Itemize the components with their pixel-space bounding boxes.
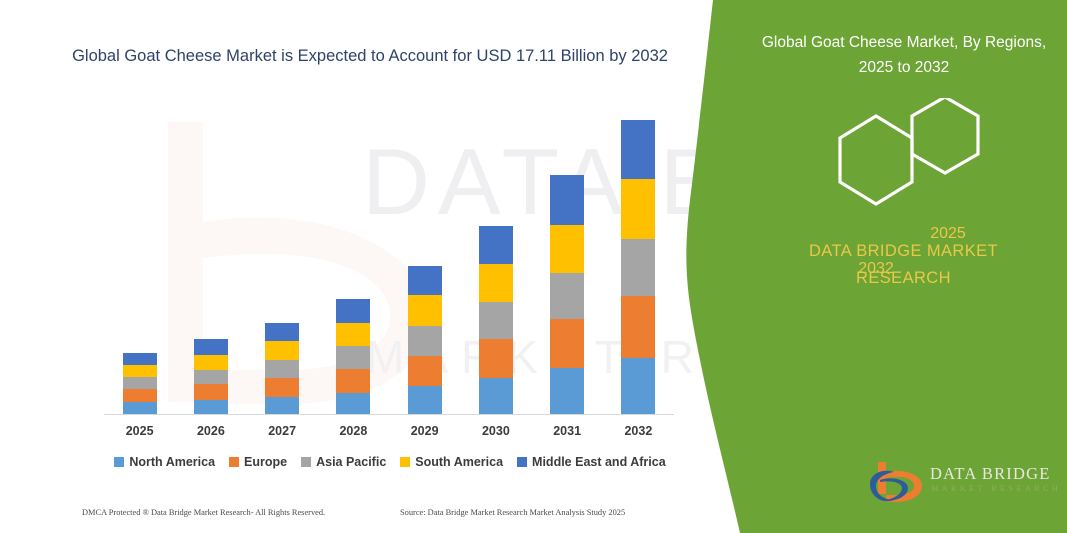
bar-segment bbox=[621, 120, 655, 179]
bar-segment bbox=[408, 356, 442, 387]
hexagon-shapes bbox=[740, 98, 1067, 218]
brand-line-1: DATA BRIDGE MARKET bbox=[750, 238, 1057, 265]
bar-segment bbox=[479, 378, 513, 414]
legend-item: Middle East and Africa bbox=[517, 455, 666, 469]
x-axis-label: 2029 bbox=[395, 424, 455, 444]
legend-item: Europe bbox=[229, 455, 287, 469]
bar-segment bbox=[621, 179, 655, 238]
footer-copyright: DMCA Protected ® Data Bridge Market Rese… bbox=[82, 508, 325, 517]
bar-segment bbox=[550, 319, 584, 368]
hexagon-2032 bbox=[840, 116, 912, 204]
bar-segment bbox=[265, 360, 299, 378]
legend-swatch bbox=[301, 457, 311, 467]
bar-segment bbox=[550, 225, 584, 273]
x-axis-label: 2030 bbox=[466, 424, 526, 444]
bar-2026 bbox=[194, 339, 228, 414]
legend-swatch bbox=[114, 457, 124, 467]
legend-item: Asia Pacific bbox=[301, 455, 386, 469]
bar-segment bbox=[408, 266, 442, 296]
bar-2025 bbox=[123, 353, 157, 414]
bar-segment bbox=[336, 346, 370, 369]
legend-item: South America bbox=[400, 455, 503, 469]
legend-label: Middle East and Africa bbox=[532, 455, 666, 469]
bar-segment bbox=[550, 368, 584, 414]
footer-source: Source: Data Bridge Market Research Mark… bbox=[400, 508, 625, 517]
bar-segment bbox=[123, 389, 157, 401]
x-axis-line bbox=[104, 414, 674, 415]
bar-segment bbox=[265, 323, 299, 341]
bar-segment bbox=[123, 377, 157, 389]
brand-line-2: RESEARCH bbox=[750, 265, 1057, 292]
legend-label: Asia Pacific bbox=[316, 455, 386, 469]
chart-legend: North AmericaEuropeAsia PacificSouth Ame… bbox=[100, 455, 680, 469]
bar-segment bbox=[123, 365, 157, 377]
bar-segment bbox=[550, 175, 584, 224]
bar-segment bbox=[194, 384, 228, 399]
db-logo-icon bbox=[868, 460, 924, 506]
bar-segment bbox=[194, 339, 228, 354]
bar-segment bbox=[123, 353, 157, 365]
x-axis-label: 2025 bbox=[110, 424, 170, 444]
bar-segment bbox=[265, 397, 299, 414]
bar-segment bbox=[621, 358, 655, 414]
legend-swatch bbox=[229, 457, 239, 467]
regions-panel-title: Global Goat Cheese Market, By Regions, 2… bbox=[758, 30, 1050, 80]
logo-wordmark: DATA BRIDGE bbox=[930, 464, 1051, 484]
hexagon-group: 2032 2025 bbox=[740, 98, 1067, 218]
footer: DMCA Protected ® Data Bridge Market Rese… bbox=[0, 508, 700, 526]
x-axis-label: 2028 bbox=[323, 424, 383, 444]
bar-segment bbox=[479, 226, 513, 265]
bar-segment bbox=[265, 378, 299, 396]
bar-segment bbox=[336, 299, 370, 323]
x-axis-label: 2032 bbox=[608, 424, 668, 444]
hexagon-2025 bbox=[912, 98, 978, 173]
bar-segment bbox=[123, 402, 157, 414]
bar-segment bbox=[550, 273, 584, 319]
legend-label: South America bbox=[415, 455, 503, 469]
legend-label: North America bbox=[129, 455, 215, 469]
bar-segment bbox=[479, 264, 513, 302]
bar-segment bbox=[479, 302, 513, 339]
bar-segment bbox=[336, 323, 370, 347]
bar-segment bbox=[265, 341, 299, 359]
regions-panel: Global Goat Cheese Market, By Regions, 2… bbox=[740, 0, 1067, 533]
bar-2028 bbox=[336, 299, 370, 414]
brand-name: DATA BRIDGE MARKET RESEARCH bbox=[750, 238, 1057, 292]
bar-2032 bbox=[621, 120, 655, 414]
bar-segment bbox=[194, 370, 228, 384]
bar-segment bbox=[336, 369, 370, 393]
bar-segment bbox=[621, 296, 655, 357]
bar-2027 bbox=[265, 323, 299, 414]
x-axis-label: 2031 bbox=[537, 424, 597, 444]
legend-item: North America bbox=[114, 455, 215, 469]
bar-segment bbox=[194, 400, 228, 414]
company-logo: DATA BRIDGE MARKET RESEARCH bbox=[868, 460, 1053, 508]
stacked-bar-group bbox=[104, 120, 674, 414]
bar-segment bbox=[621, 239, 655, 296]
bar-2029 bbox=[408, 266, 442, 415]
logo-subtitle: MARKET RESEARCH bbox=[931, 484, 1061, 493]
legend-swatch bbox=[400, 457, 410, 467]
chart-panel: DATA BRIDGE MARKET RESEARCH Global Goat … bbox=[0, 0, 740, 533]
bar-segment bbox=[336, 393, 370, 415]
bar-segment bbox=[194, 355, 228, 370]
bar-2030 bbox=[479, 226, 513, 414]
legend-label: Europe bbox=[244, 455, 287, 469]
x-axis-labels: 20252026202720282029203020312032 bbox=[104, 424, 674, 444]
bar-segment bbox=[408, 326, 442, 356]
bar-segment bbox=[408, 386, 442, 414]
x-axis-label: 2026 bbox=[181, 424, 241, 444]
infographic-root: DATA BRIDGE MARKET RESEARCH Global Goat … bbox=[0, 0, 1067, 533]
bar-segment bbox=[408, 295, 442, 326]
x-axis-label: 2027 bbox=[252, 424, 312, 444]
legend-swatch bbox=[517, 457, 527, 467]
bar-segment bbox=[479, 339, 513, 378]
bar-2031 bbox=[550, 175, 584, 414]
chart-title: Global Goat Cheese Market is Expected to… bbox=[70, 44, 670, 69]
